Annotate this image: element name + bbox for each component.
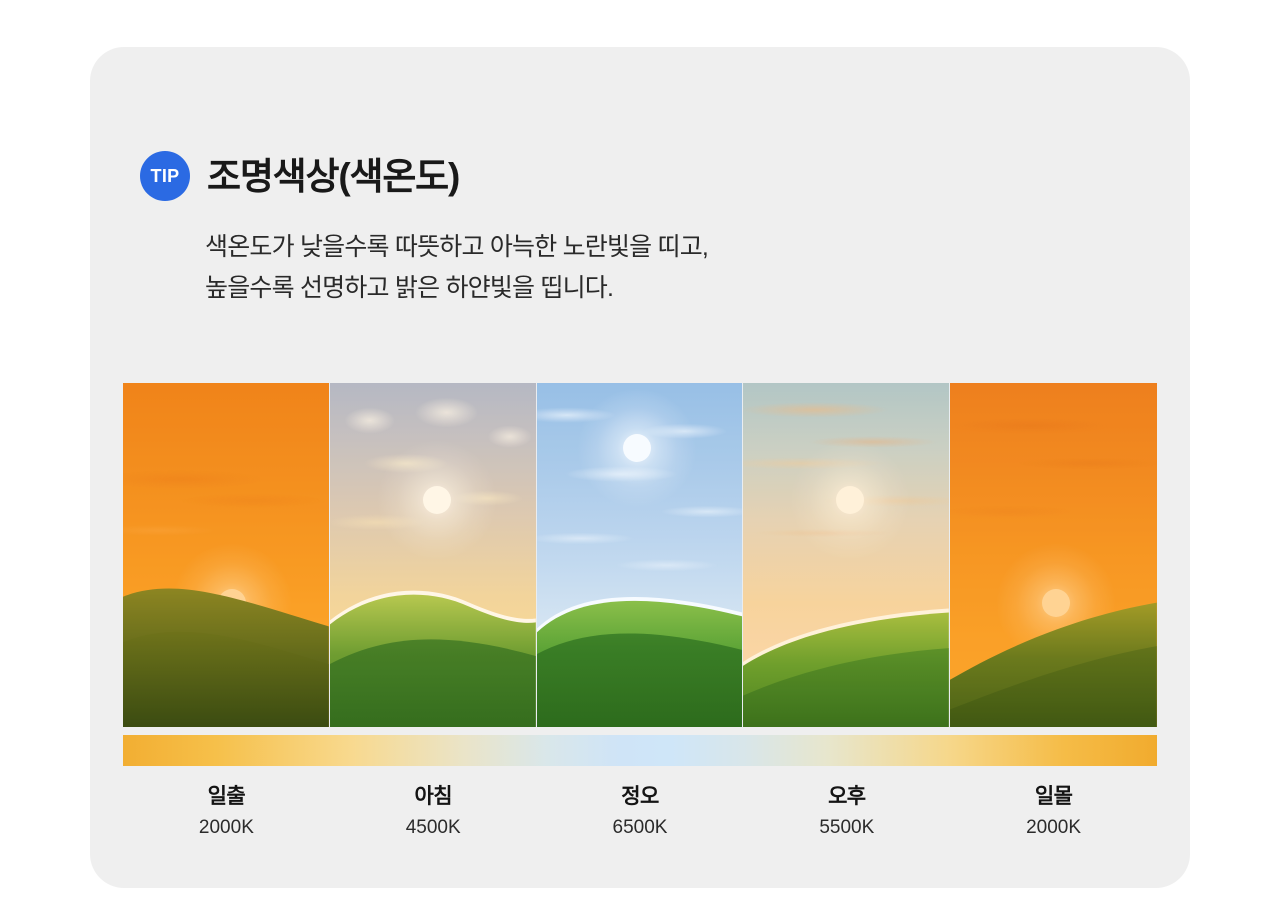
- tip-card: TIP 조명색상(색온도) 색온도가 낮을수록 따뜻하고 아늑한 노란빛을 띠고…: [90, 47, 1190, 888]
- label-column-noon: 정오 6500K: [537, 783, 744, 843]
- tip-description: 색온도가 낮을수록 따뜻하고 아늑한 노란빛을 띠고, 높을수록 선명하고 밝은…: [205, 227, 708, 308]
- color-wash-noon: [537, 383, 743, 727]
- label-name-sunrise: 일출: [123, 783, 330, 811]
- label-name-sunset: 일몰: [950, 783, 1157, 811]
- label-kelvin-afternoon: 5500K: [743, 813, 950, 842]
- color-wash-afternoon: [743, 383, 949, 727]
- label-name-noon: 정오: [537, 783, 744, 811]
- label-column-sunset: 일몰 2000K: [950, 783, 1157, 843]
- description-line-1: 색온도가 낮을수록 따뜻하고 아늑한 노란빛을 띠고,: [205, 227, 708, 268]
- color-wash-morning: [330, 383, 536, 727]
- label-kelvin-morning: 4500K: [330, 813, 537, 842]
- label-column-afternoon: 오후 5500K: [743, 783, 950, 843]
- color-temperature-gradient-bar: [123, 735, 1157, 766]
- panel-sunset: [950, 383, 1157, 727]
- panel-afternoon: [743, 383, 950, 727]
- page-title: 조명색상(색온도): [207, 158, 459, 195]
- label-name-afternoon: 오후: [743, 783, 950, 811]
- label-kelvin-sunset: 2000K: [950, 813, 1157, 842]
- tip-header: TIP 조명색상(색온도): [140, 151, 459, 201]
- color-temperature-image-strip: [123, 383, 1157, 727]
- panel-noon: [537, 383, 744, 727]
- label-kelvin-noon: 6500K: [537, 813, 744, 842]
- panel-sunrise: [123, 383, 330, 727]
- description-line-2: 높을수록 선명하고 밝은 하얀빛을 띱니다.: [205, 268, 708, 309]
- label-kelvin-sunrise: 2000K: [123, 813, 330, 842]
- label-name-morning: 아침: [330, 783, 537, 811]
- label-column-sunrise: 일출 2000K: [123, 783, 330, 843]
- color-wash-sunset: [950, 383, 1157, 727]
- tip-badge-icon: TIP: [140, 151, 190, 201]
- color-wash-sunrise: [123, 383, 329, 727]
- panel-morning: [330, 383, 537, 727]
- color-temperature-labels: 일출 2000K 아침 4500K 정오 6500K 오후 5500K 일몰 2…: [123, 783, 1157, 843]
- label-column-morning: 아침 4500K: [330, 783, 537, 843]
